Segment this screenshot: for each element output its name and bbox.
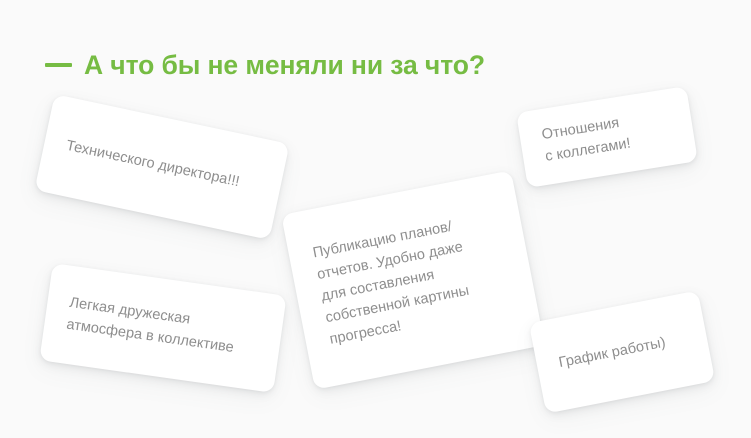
- answer-card: График работы): [529, 290, 715, 413]
- page-title-text: А что бы не меняли ни за что?: [84, 52, 485, 79]
- answer-card-text: Публикацию планов/ отчетов. Удобно даже …: [311, 209, 514, 352]
- answer-card: Публикацию планов/ отчетов. Удобно даже …: [281, 170, 545, 389]
- answer-card-text: Технического директора!!!: [64, 136, 260, 198]
- answer-card: Легкая дружеская атмосфера в коллективе: [39, 263, 286, 393]
- answers-board: А что бы не меняли ни за что? Техническо…: [0, 0, 751, 438]
- answer-card-text: График работы): [557, 329, 687, 375]
- page-title: А что бы не меняли ни за что?: [45, 52, 485, 79]
- answer-card: Технического директора!!!: [34, 94, 289, 240]
- answer-card-text: Отношения с коллегами!: [540, 105, 673, 168]
- answer-card-text: Легкая дружеская атмосфера в коллективе: [65, 293, 261, 363]
- answer-card: Отношения с коллегами!: [516, 86, 698, 188]
- em-dash-icon: [45, 63, 72, 67]
